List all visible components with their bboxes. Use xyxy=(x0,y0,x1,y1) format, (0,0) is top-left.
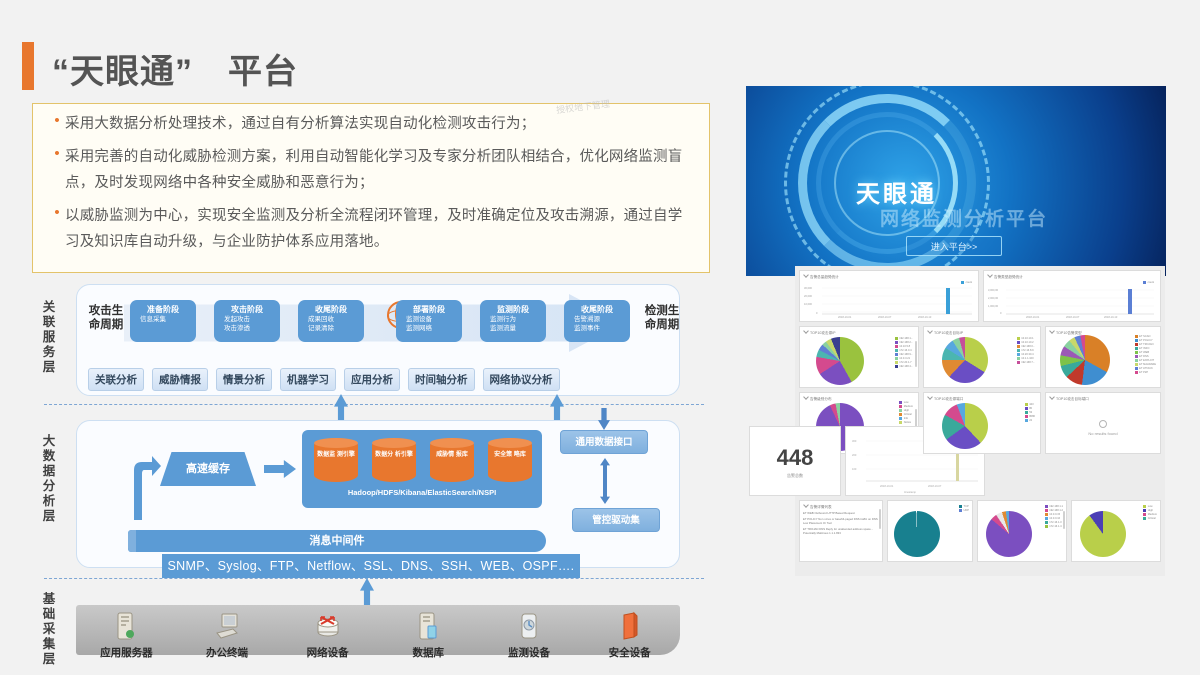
svg-text:2018-10-01: 2018-10-01 xyxy=(1026,315,1040,319)
scrollbar-thumb[interactable] xyxy=(1063,511,1065,529)
chart-legend: 10.10.10.1 10.10.10.2 192.168.0... 172.1… xyxy=(1017,337,1035,365)
layer-divider xyxy=(44,404,704,405)
monitor-probe-icon xyxy=(485,609,573,643)
card-title: 告警总量趋势统计 xyxy=(800,271,978,280)
chart-legend: Low Medium High Critical Info Notice xyxy=(899,401,913,425)
dashboard-card-bar[interactable]: 告警类型趋势统计 3,000,00 2,000,00 1,000,00 0 20… xyxy=(983,270,1161,322)
empty-state: No results found xyxy=(1046,420,1160,436)
bullet-text: 采用完善的自动化威胁检测方案，利用自动智能化学习及专家分析团队相结合，优化网络监… xyxy=(65,144,693,196)
stage-title: 攻击阶段 xyxy=(214,304,280,315)
svg-text:1,000,00: 1,000,00 xyxy=(988,304,999,308)
svg-text:10,000: 10,000 xyxy=(804,302,812,306)
detect-stage-box: 部署阶段 监测设备 监测网络 xyxy=(396,300,462,342)
stage-sub: 成果回收 xyxy=(298,315,364,324)
title-accent-bar xyxy=(22,42,34,90)
layer-divider xyxy=(44,578,704,579)
dashboard-grid: 告警总量趋势统计 30,000 20,000 10,000 0 2018-10-… xyxy=(795,266,1165,576)
chart-legend: 192.168.1.1 192.168.1.2 10.0.0.15 10.0.0… xyxy=(1045,505,1063,529)
svg-text:2,000,00: 2,000,00 xyxy=(988,296,999,300)
card-title: TOP10攻击源IP xyxy=(800,327,918,336)
storage-engine-box: 数据监 测引擎 数据分 析引擎 威胁情 报库 安全策 略库 Hadoop/HDF… xyxy=(302,430,542,508)
splash-subtitle: 网络监测分析平台 xyxy=(880,204,1048,231)
info-circle-icon xyxy=(1099,420,1107,428)
svg-text:0: 0 xyxy=(1000,311,1002,315)
enter-platform-button[interactable]: 进入平台>> xyxy=(906,236,1002,256)
list-item[interactable]: ET TROJAN DNS Reply for unattended addre… xyxy=(800,526,882,536)
pie-chart xyxy=(816,337,864,385)
analysis-tag[interactable]: 威胁情报 xyxy=(152,368,208,391)
svg-text:300: 300 xyxy=(852,439,857,443)
svg-text:2018-10-01: 2018-10-01 xyxy=(880,484,894,488)
svg-text:20,000: 20,000 xyxy=(804,294,812,298)
dashboard-card-pie[interactable]: TOP10攻击源IP 192.168.1... 192.168.2... 10.… xyxy=(799,326,919,388)
chart-legend: 443 80 53 8080 22 xyxy=(1025,403,1035,423)
svg-text:30,000: 30,000 xyxy=(804,286,812,290)
analysis-tag[interactable]: 关联分析 xyxy=(88,368,144,391)
bullet-item: • 采用完善的自动化威胁检测方案，利用自动智能化学习及专家分析团队相结合，优化网… xyxy=(33,144,709,196)
slide-root: “天眼通” 平台 • 采用大数据分析处理技术，通过自有分析算法实现自动化检测攻击… xyxy=(0,0,1200,675)
attack-stage-box: 攻击阶段 发起攻击 攻击渗透 xyxy=(214,300,280,342)
attack-lifecycle-label: 攻击生命周期 xyxy=(86,304,126,332)
card-title: TOP10攻击源端口 xyxy=(924,393,1040,402)
detect-stage-box: 监测阶段 监测行为 监测流量 xyxy=(480,300,546,342)
message-middleware-bar: 消息中间件 xyxy=(128,530,546,552)
analysis-tag[interactable]: 应用分析 xyxy=(344,368,400,391)
dashboard-card-empty[interactable]: TOP10攻击目标端口 No results found xyxy=(1045,392,1161,454)
stage-title: 准备阶段 xyxy=(130,304,196,315)
router-icon xyxy=(284,609,372,643)
storage-stack-caption: Hadoop/HDFS/Kibana/ElasticSearch/NSPI xyxy=(302,488,542,497)
storage-cylinder: 威胁情 报库 xyxy=(430,438,474,482)
analysis-tag[interactable]: 机器学习 xyxy=(280,368,336,391)
scrollbar-thumb[interactable] xyxy=(879,509,881,529)
empty-state-text: No results found xyxy=(1046,431,1160,436)
stage-sub: 监测网络 xyxy=(396,324,462,333)
svg-text:2018-10-01: 2018-10-01 xyxy=(838,315,852,319)
stage-sub: 信息采集 xyxy=(130,315,196,324)
card-title: TOP10攻击目标IP xyxy=(924,327,1040,336)
analysis-tag-row: 关联分析 威胁情报 情景分析 机器学习 应用分析 时间轴分析 网络协议分析 xyxy=(88,368,674,391)
dashboard-card-pie[interactable]: Low High Medium Critical xyxy=(1071,500,1161,562)
dashboard-card-pie[interactable]: TOP10攻击目标IP 10.10.10.1 10.10.10.2 192.16… xyxy=(923,326,1041,388)
architecture-diagram: 关联服务层 大数据分析层 基础采集层 攻击生命周期 检测生命周期 准备阶段 信息… xyxy=(32,282,712,667)
stage-sub: 监测行为 xyxy=(480,315,546,324)
svg-text:0: 0 xyxy=(816,311,818,315)
pie-chart xyxy=(942,337,988,383)
scrollbar-thumb[interactable] xyxy=(915,341,917,367)
bullet-item: • 采用大数据分析处理技术，通过自有分析算法实现自动化检测攻击行为； xyxy=(33,111,709,137)
chart-legend: ET SCAN ET POLICY ET TROJAN ET INFO ET W… xyxy=(1135,335,1156,375)
storage-cylinder: 数据监 测引擎 xyxy=(314,438,358,482)
stage-sub: 告警溯源 xyxy=(564,315,630,324)
card-title: 告警详情列表 xyxy=(800,501,882,510)
svg-text:2018-10-07: 2018-10-07 xyxy=(1066,315,1080,319)
page-title: “天眼通” 平台 xyxy=(52,44,298,93)
svg-text:2018-10-07: 2018-10-07 xyxy=(928,484,942,488)
chart-legend: 192.168.1... 192.168.2... 10.10.5.8 172.… xyxy=(895,337,913,369)
bullet-marker-icon: • xyxy=(49,111,65,137)
svg-text:2018-10-13: 2018-10-13 xyxy=(918,315,932,319)
dashboard-card-pie[interactable]: TCP UDP xyxy=(887,500,973,562)
bullet-marker-icon: • xyxy=(49,203,65,255)
metric-caption: 告警总数 xyxy=(750,473,840,479)
database-icon xyxy=(384,609,472,643)
svg-text:3,000,00: 3,000,00 xyxy=(988,288,999,292)
attack-stage-box: 准备阶段 信息采集 xyxy=(130,300,196,342)
chart-legend: Low High Medium Critical xyxy=(1143,505,1157,521)
card-title: 告警类型趋势统计 xyxy=(984,271,1160,280)
protocol-bar: SNMP、Syslog、FTP、Netflow、SSL、DNS、SSH、WEB、… xyxy=(162,554,580,578)
stage-sub: 监测设备 xyxy=(396,315,462,324)
device-item-monitor[interactable]: 监测设备 xyxy=(485,609,573,660)
pie-chart xyxy=(894,511,940,557)
layer-label-service: 关联服务层 xyxy=(38,300,60,375)
stage-title: 监测阶段 xyxy=(480,304,546,315)
card-title: TOP10攻击目标端口 xyxy=(1046,393,1160,402)
layer-label-bigdata: 大数据分析层 xyxy=(38,434,60,524)
bar-chart: 3,000,00 2,000,00 1,000,00 0 2018-10-01 … xyxy=(984,280,1162,320)
device-label: 数据库 xyxy=(384,645,472,660)
server-icon xyxy=(82,609,170,643)
workstation-icon xyxy=(183,609,271,643)
control-driver-node: 管控驱动集 xyxy=(572,508,660,532)
pie-chart xyxy=(986,511,1032,557)
dashboard-card-bar[interactable]: 告警总量趋势统计 30,000 20,000 10,000 0 2018-10-… xyxy=(799,270,979,322)
detect-lifecycle-label: 检测生命周期 xyxy=(642,304,682,332)
stage-title: 收尾阶段 xyxy=(298,304,364,315)
device-label: 办公终端 xyxy=(183,645,271,660)
bullet-text: 采用大数据分析处理技术，通过自有分析算法实现自动化检测攻击行为； xyxy=(65,111,693,137)
bar-chart: 30,000 20,000 10,000 0 2018-10-01 2018-1… xyxy=(800,280,980,320)
cache-node: 高速缓存 xyxy=(160,452,256,486)
stage-sub: 记录清除 xyxy=(298,324,364,333)
layer-label-collection: 基础采集层 xyxy=(38,592,60,667)
storage-cylinder: 安全策 略库 xyxy=(488,438,532,482)
flow-arrow-up-icon xyxy=(334,394,348,422)
svg-text:2018-10-13: 2018-10-13 xyxy=(1104,315,1118,319)
analysis-tag[interactable]: 情景分析 xyxy=(216,368,272,391)
device-label: 网络设备 xyxy=(284,645,372,660)
analysis-tag[interactable]: 网络协议分析 xyxy=(483,368,560,391)
device-row: 应用服务器 办公终端 xyxy=(76,592,680,660)
svg-text:200: 200 xyxy=(852,453,857,457)
device-item-workstation[interactable]: 办公终端 xyxy=(183,609,271,660)
dashboard-card-pie[interactable]: 192.168.1.1 192.168.1.2 10.0.0.15 10.0.0… xyxy=(977,500,1067,562)
pie-chart xyxy=(942,403,988,449)
stage-sub: 监测事件 xyxy=(564,324,630,333)
summary-box: • 采用大数据分析处理技术，通过自有分析算法实现自动化检测攻击行为； • 采用完… xyxy=(32,103,710,273)
dashboard-card-list[interactable]: 告警详情列表 ET WEB Outbound HTTP Based Reques… xyxy=(799,500,883,562)
bullet-text: 以威胁监测为中心，实现安全监测及分析全流程闭环管理，及时准确定位及攻击溯源，通过… xyxy=(65,203,693,255)
product-splash-screenshot: 天眼通 网络监测分析平台 进入平台>> xyxy=(746,86,1166,276)
svg-text:2018-10-07: 2018-10-07 xyxy=(878,315,892,319)
bullet-item: • 以威胁监测为中心，实现安全监测及分析全流程闭环管理，及时准确定位及攻击溯源，… xyxy=(33,203,709,255)
stage-title: 收尾阶段 xyxy=(564,304,630,315)
device-item-security[interactable]: 安全设备 xyxy=(586,609,674,660)
hook-arrow-icon xyxy=(128,454,162,520)
device-item-network[interactable]: 网络设备 xyxy=(284,609,372,660)
firewall-icon xyxy=(586,609,674,643)
chart-legend: TCP UDP xyxy=(959,505,969,513)
stage-sub: 发起攻击 xyxy=(214,315,280,324)
device-item-database[interactable]: 数据库 xyxy=(384,609,472,660)
product-dashboard-screenshot: 告警总量趋势统计 30,000 20,000 10,000 0 2018-10-… xyxy=(795,266,1165,576)
list-item[interactable]: ET POLICY Non x-hex or base64-paged DNS … xyxy=(800,516,882,526)
dashboard-card-metric[interactable]: 448 告警总数 xyxy=(749,426,841,496)
dashboard-card-pie[interactable]: TOP10告警类型 ET SCAN ET POLICY ET TROJAN ET… xyxy=(1045,326,1161,388)
detect-stage-box: 收尾阶段 告警溯源 监测事件 xyxy=(564,300,630,342)
storage-cylinder: 数据分 析引擎 xyxy=(372,438,416,482)
bullet-marker-icon: • xyxy=(49,144,65,196)
flow-arrow-up-icon xyxy=(550,394,564,422)
device-label: 安全设备 xyxy=(586,645,674,660)
stage-sub: 监测流量 xyxy=(480,324,546,333)
pie-chart xyxy=(1060,335,1110,385)
svg-text:100: 100 xyxy=(852,467,857,471)
stage-sub: 攻击渗透 xyxy=(214,324,280,333)
analysis-tag[interactable]: 时间轴分析 xyxy=(408,368,475,391)
metric-value: 448 xyxy=(750,445,840,471)
dashboard-card-pie[interactable]: TOP10攻击源端口 443 80 53 8080 22 xyxy=(923,392,1041,454)
device-label: 应用服务器 xyxy=(82,645,170,660)
stage-title: 部署阶段 xyxy=(396,304,462,315)
pie-chart xyxy=(1080,511,1126,557)
chart-legend: count xyxy=(961,281,972,285)
device-item-app-server[interactable]: 应用服务器 xyxy=(82,609,170,660)
svg-text:timestamp: timestamp xyxy=(904,490,917,494)
chart-legend: count xyxy=(1143,281,1154,285)
device-label: 监测设备 xyxy=(485,645,573,660)
data-interface-node: 通用数据接口 xyxy=(560,430,648,454)
attack-stage-box: 收尾阶段 成果回收 记录清除 xyxy=(298,300,364,342)
